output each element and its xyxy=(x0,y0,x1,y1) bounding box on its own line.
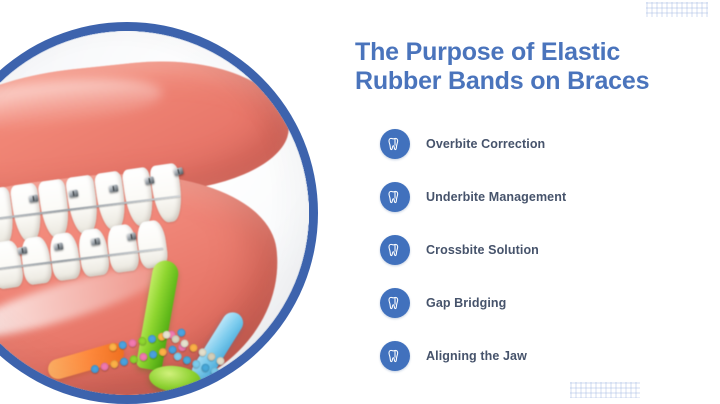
bracket xyxy=(54,242,64,250)
tooth-icon xyxy=(380,341,410,371)
bracket xyxy=(68,189,78,197)
dental-braces-photo xyxy=(0,31,309,395)
list-item-label: Crossbite Solution xyxy=(426,243,539,257)
list-item-label: Underbite Management xyxy=(426,190,566,204)
bracket xyxy=(17,247,27,255)
content-panel: The Purpose of Elastic Rubber Bands on B… xyxy=(352,0,720,404)
page-title-line-2: Rubber Bands on Braces xyxy=(355,67,705,96)
tooth-icon xyxy=(380,235,410,265)
list-item[interactable]: Overbite Correction xyxy=(380,117,710,170)
list-item[interactable]: Underbite Management xyxy=(380,170,710,223)
page-title: The Purpose of Elastic Rubber Bands on B… xyxy=(355,38,705,96)
tooth-icon xyxy=(380,288,410,318)
list-item-label: Gap Bridging xyxy=(426,296,506,310)
photo-ring xyxy=(0,22,318,404)
page-title-line-1: The Purpose of Elastic xyxy=(355,38,705,67)
list-item[interactable]: Gap Bridging xyxy=(380,276,710,329)
tooth xyxy=(48,231,83,282)
bracket xyxy=(108,184,118,192)
bracket xyxy=(28,194,38,202)
tooth xyxy=(77,227,112,278)
list-item-label: Aligning the Jaw xyxy=(426,349,527,363)
list-item-label: Overbite Correction xyxy=(426,137,545,151)
tooth-icon xyxy=(380,129,410,159)
tooth xyxy=(106,223,141,274)
tooth-icon xyxy=(380,182,410,212)
list-item[interactable]: Crossbite Solution xyxy=(380,223,710,276)
list-item[interactable]: Aligning the Jaw xyxy=(380,329,710,382)
bracket xyxy=(126,232,136,240)
slide-canvas: The Purpose of Elastic Rubber Bands on B… xyxy=(0,0,720,404)
benefits-list: Overbite Correction Underbite Management xyxy=(380,117,710,382)
